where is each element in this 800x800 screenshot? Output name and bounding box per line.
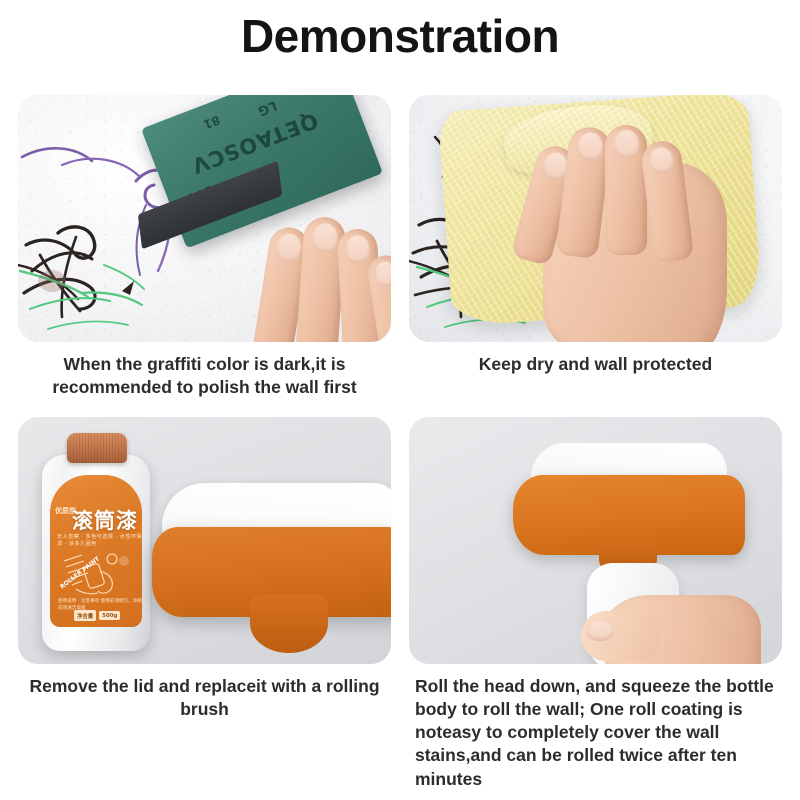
step-2-caption: Keep dry and wall protected [409, 342, 782, 376]
fingernail [275, 232, 303, 263]
product-label: 优质型 滚筒漆 无人觉察 · 多色可选择 · 水性环保漆 · 涂多久固色 [50, 475, 142, 627]
thumb [581, 611, 659, 661]
step-4-cell: Roll the head down, and squeeze the bott… [409, 417, 782, 790]
fingernail [649, 146, 675, 175]
label-illustration: ROLLER PAINT [60, 545, 132, 601]
page-title: Demonstration [0, 0, 800, 59]
step-4-caption: Roll the head down, and squeeze the bott… [409, 664, 782, 790]
sanding-block-grade-text: LG [256, 97, 279, 118]
photo-bottle-and-roller-head: 优质型 滚筒漆 无人觉察 · 多色可选择 · 水性环保漆 · 涂多久固色 [18, 417, 391, 664]
fingernail [311, 222, 338, 253]
step-3-cell: 优质型 滚筒漆 无人觉察 · 多色可选择 · 水性环保漆 · 涂多久固色 [18, 417, 391, 790]
photo-polish-wall-with-sanding-block: QETAOSCV SM LG 81 [18, 95, 391, 342]
hand-squeezing-bottle [581, 573, 761, 664]
label-net-weight-badge: 净含量 500g [74, 610, 120, 621]
label-product-name: 滚筒漆 [72, 505, 138, 535]
fingernail [576, 131, 604, 162]
hand-holding-block [236, 183, 391, 342]
hand-wiping-wall [497, 119, 747, 342]
finger [605, 125, 647, 255]
photo-wipe-wall-with-cloth [409, 95, 782, 342]
roller-brush-head [513, 443, 745, 573]
roller-brush-head [152, 483, 391, 655]
steps-grid: QETAOSCV SM LG 81 [0, 95, 800, 791]
step-1-cell: QETAOSCV SM LG 81 [18, 95, 391, 399]
bottle-cap [67, 433, 127, 463]
steps-row-bottom: 优质型 滚筒漆 无人觉察 · 多色可选择 · 水性环保漆 · 涂多久固色 [0, 417, 800, 790]
steps-row-top: QETAOSCV SM LG 81 [0, 95, 800, 399]
demonstration-page: Demonstration [0, 0, 800, 800]
roller-stem [250, 595, 328, 653]
photo-rolling-the-wall [409, 417, 782, 664]
fingernail [373, 260, 391, 288]
fingernail [345, 234, 370, 263]
step-3-caption: Remove the lid and replaceit with a roll… [18, 664, 391, 721]
fingernail [614, 130, 639, 158]
net-weight-value: 500g [99, 611, 120, 620]
step-1-caption: When the graffiti color is dark,it is re… [18, 342, 391, 399]
thumbnail [587, 621, 613, 641]
step-2-cell: Keep dry and wall protected [409, 95, 782, 399]
net-weight-label: 净含量 [74, 610, 96, 621]
paint-bottle: 优质型 滚筒漆 无人觉察 · 多色可选择 · 水性环保漆 · 涂多久固色 [42, 433, 150, 651]
sanding-block-number-text: 81 [201, 113, 222, 132]
